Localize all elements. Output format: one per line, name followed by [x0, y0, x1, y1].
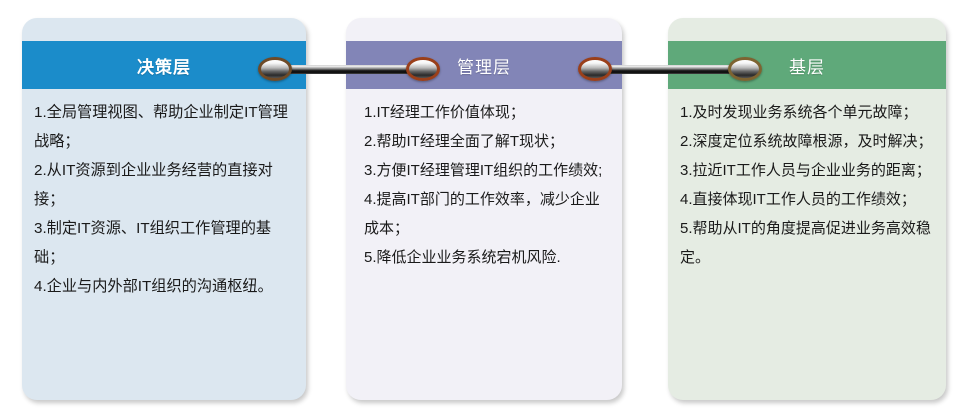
list-item: 2.深度定位系统故障根源，及时解决； [680, 127, 940, 156]
card-management-layer-title: 管理层 [457, 53, 511, 78]
card-decision-layer[interactable]: 决策层 1.全局管理视图、帮助企业制定IT管理战略； 2.从IT资源到企业业务经… [22, 18, 306, 400]
list-item: 4.直接体现IT工作人员的工作绩效； [680, 185, 940, 214]
card-decision-layer-body: 1.全局管理视图、帮助企业制定IT管理战略； 2.从IT资源到企业业务经营的直接… [22, 89, 306, 301]
list-item: 2.从IT资源到企业业务经营的直接对接； [34, 156, 296, 214]
card-base-layer-title: 基层 [789, 53, 825, 78]
list-item: 3.拉近IT工作人员与企业业务的距离； [680, 156, 940, 185]
list-item: 2.帮助IT经理全面了解T现状； [364, 127, 612, 156]
list-item: 5.帮助从IT的角度提高促进业务高效稳定。 [680, 214, 940, 272]
card-management-layer-header: 管理层 [346, 41, 622, 89]
card-base-layer-body: 1.及时发现业务系统各个单元故障； 2.深度定位系统故障根源，及时解决； 3.拉… [668, 89, 946, 272]
card-base-layer-header: 基层 [668, 41, 946, 89]
card-base-layer[interactable]: 基层 1.及时发现业务系统各个单元故障； 2.深度定位系统故障根源，及时解决； … [668, 18, 946, 400]
list-item: 1.及时发现业务系统各个单元故障； [680, 98, 940, 127]
card-management-layer-body: 1.IT经理工作价值体现； 2.帮助IT经理全面了解T现状； 3.方便IT经理管… [346, 89, 622, 272]
card-management-layer[interactable]: 管理层 1.IT经理工作价值体现； 2.帮助IT经理全面了解T现状； 3.方便I… [346, 18, 622, 400]
list-item: 4.企业与内外部IT组织的沟通枢纽。 [34, 272, 296, 301]
list-item: 1.全局管理视图、帮助企业制定IT管理战略； [34, 98, 296, 156]
card-decision-layer-header: 决策层 [22, 41, 306, 89]
list-item: 5.降低企业业务系统宕机风险. [364, 243, 612, 272]
list-item: 1.IT经理工作价值体现； [364, 98, 612, 127]
list-item: 4.提高IT部门的工作效率，减少企业成本； [364, 185, 612, 243]
layer-diagram: 决策层 1.全局管理视图、帮助企业制定IT管理战略； 2.从IT资源到企业业务经… [0, 0, 960, 416]
list-item: 3.方便IT经理管理IT组织的工作绩效; [364, 156, 612, 185]
card-decision-layer-title: 决策层 [137, 53, 191, 78]
list-item: 3.制定IT资源、IT组织工作管理的基础； [34, 214, 296, 272]
